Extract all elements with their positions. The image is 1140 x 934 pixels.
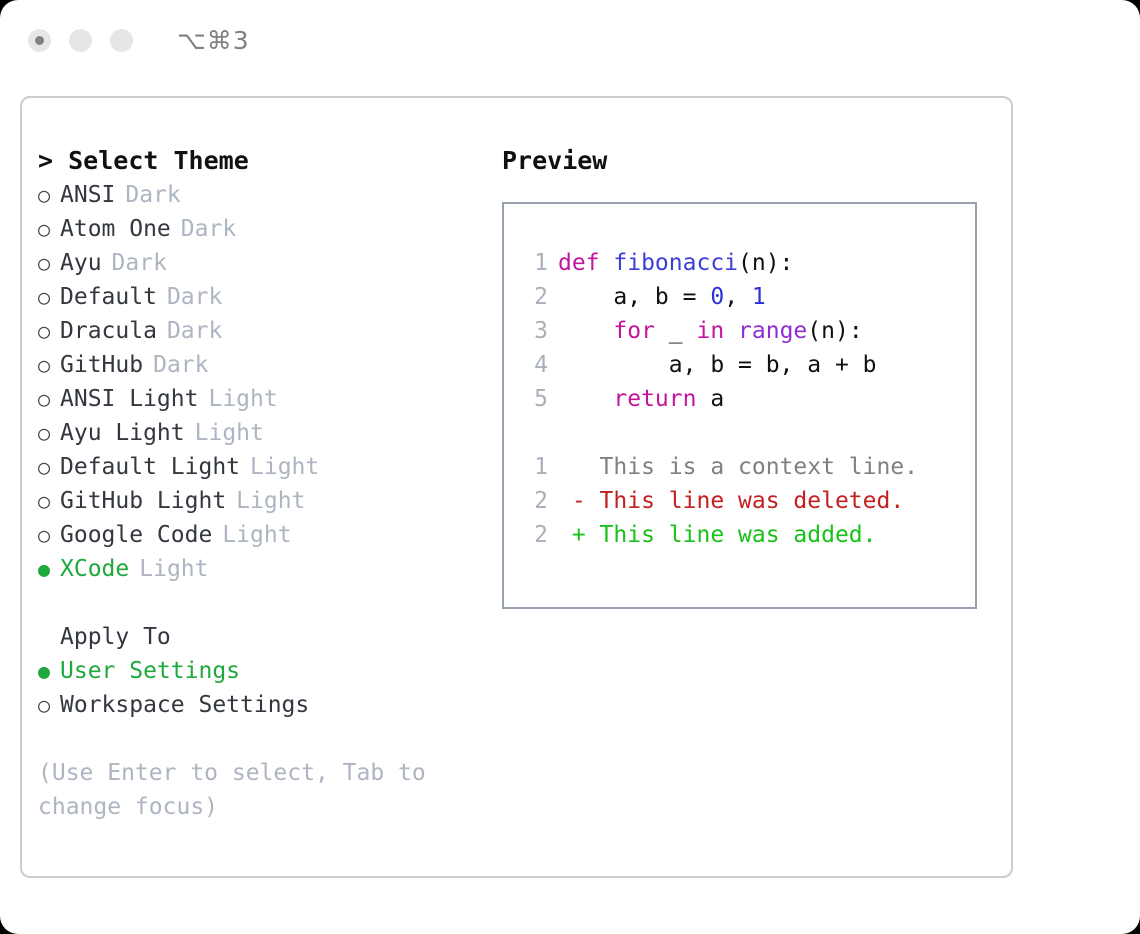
theme-variant-tag: Dark [112,246,167,280]
active-indicator-dot [35,36,44,45]
code-token-plain: a, b = [558,284,710,310]
code-line-text: def fibonacci(n): [558,246,793,280]
code-token-num: 0 [710,284,724,310]
preview-column: Preview 1def fibonacci(n):2 a, b = 0, 13… [502,144,1002,609]
window-controls [28,29,133,52]
apply-to-header-label: Apply To [60,620,171,654]
theme-variant-tag: Light [195,416,264,450]
apply-to-option-label: Workspace Settings [60,688,309,722]
preview-box: 1def fibonacci(n):2 a, b = 0, 13 for _ i… [502,202,977,609]
diff-line-number: 2 [518,518,548,552]
theme-variant-tag: Light [208,382,277,416]
code-line-number: 5 [518,382,548,416]
page-title-text: Select Theme [68,146,249,175]
diff-line-text: + This line was added. [558,518,877,552]
page-title: > Select Theme [38,144,498,178]
apply-to-option-label: User Settings [60,654,240,688]
code-line-number: 2 [518,280,548,314]
theme-option-ansi[interactable]: ○ANSIDark [38,178,498,212]
theme-option-label: GitHub [60,348,143,382]
radio-unselected-icon: ○ [38,280,60,314]
radio-unselected-icon: ○ [38,348,60,382]
title-bar: ⌥⌘3 [0,0,1140,80]
theme-option-label: Atom One [60,212,171,246]
code-line: 5 return a [504,382,975,416]
theme-option-github-light[interactable]: ○GitHub LightLight [38,484,498,518]
theme-option-default-light[interactable]: ○Default LightLight [38,450,498,484]
code-token-kw: return [613,386,696,412]
radio-unselected-icon: ○ [38,382,60,416]
diff-line-number: 2 [518,484,548,518]
code-line-text: for _ in range(n): [558,314,863,348]
theme-variant-tag: Light [222,518,291,552]
code-line-text: a, b = b, a + b [558,348,877,382]
diff-line-ctx: 1 This is a context line. [504,450,975,484]
radio-unselected-icon: ○ [38,484,60,518]
theme-option-ayu-light[interactable]: ○Ayu LightLight [38,416,498,450]
theme-option-label: XCode [60,552,129,586]
radio-unselected-icon: ○ [38,688,60,722]
radio-unselected-icon: ○ [38,450,60,484]
theme-option-dracula[interactable]: ○DraculaDark [38,314,498,348]
theme-variant-tag: Dark [181,212,236,246]
theme-option-default[interactable]: ○DefaultDark [38,280,498,314]
code-line-text: a, b = 0, 1 [558,280,766,314]
theme-option-label: GitHub Light [60,484,226,518]
code-token-plain [724,318,738,344]
theme-option-label: Ayu [60,246,102,280]
code-line: 2 a, b = 0, 1 [504,280,975,314]
code-token-plain: (n): [807,318,862,344]
theme-variant-tag: Light [236,484,305,518]
theme-variant-tag: Dark [153,348,208,382]
code-token-plain [558,318,613,344]
apply-to-header: ○Apply To [38,620,498,654]
code-token-kw: def [558,250,613,276]
theme-variant-tag: Light [250,450,319,484]
radio-unselected-icon: ○ [38,518,60,552]
apply-to-option-workspace-settings[interactable]: ○Workspace Settings [38,688,498,722]
diff-line-number: 1 [518,450,548,484]
code-token-kw: for [613,318,655,344]
theme-option-xcode[interactable]: ●XCodeLight [38,552,498,586]
theme-option-label: Default Light [60,450,240,484]
main-panel: > Select Theme ○ANSIDark○Atom OneDark○Ay… [20,96,1013,878]
keyboard-hint: (Use Enter to select, Tab to change focu… [38,756,438,824]
theme-option-ansi-light[interactable]: ○ANSI LightLight [38,382,498,416]
code-line: 1def fibonacci(n): [504,246,975,280]
theme-option-label: ANSI [60,178,115,212]
code-token-plain [558,386,613,412]
code-token-plain: a, b = b, a + b [558,352,877,378]
code-line: 3 for _ in range(n): [504,314,975,348]
code-token-kw: in [696,318,724,344]
code-sample: 1def fibonacci(n):2 a, b = 0, 13 for _ i… [504,246,975,416]
theme-variant-tag: Dark [125,178,180,212]
diff-sample: 1 This is a context line.2 - This line w… [504,450,975,552]
theme-option-github[interactable]: ○GitHubDark [38,348,498,382]
theme-option-label: Ayu Light [60,416,185,450]
theme-option-label: Default [60,280,157,314]
window-dot-third-icon[interactable] [110,29,133,52]
theme-option-google-code[interactable]: ○Google CodeLight [38,518,498,552]
radio-unselected-icon: ○ [38,314,60,348]
window-dot-second-icon[interactable] [69,29,92,52]
theme-variant-tag: Light [139,552,208,586]
code-token-num: 1 [752,284,766,310]
diff-line-add: 2 + This line was added. [504,518,975,552]
theme-list: ○ANSIDark○Atom OneDark○AyuDark○DefaultDa… [38,178,498,586]
code-token-plain: a [696,386,724,412]
theme-option-label: Google Code [60,518,212,552]
apply-to-option-user-settings[interactable]: ●User Settings [38,654,498,688]
radio-unselected-icon: ○ [38,246,60,280]
code-line-number: 3 [518,314,548,348]
preview-title: Preview [502,144,1002,178]
theme-option-atom-one[interactable]: ○Atom OneDark [38,212,498,246]
diff-line-text: This is a context line. [558,450,918,484]
diff-line-text: - This line was deleted. [558,484,904,518]
radio-selected-icon: ● [38,654,60,688]
code-token-fn: fibonacci [613,250,738,276]
theme-option-ayu[interactable]: ○AyuDark [38,246,498,280]
apply-to-list: ●User Settings○Workspace Settings [38,654,498,722]
radio-selected-icon: ● [38,552,60,586]
radio-unselected-icon: ○ [38,212,60,246]
code-diff-spacer [504,416,975,450]
theme-variant-tag: Dark [167,314,222,348]
code-token-plain: _ [655,318,697,344]
code-token-builtin: range [738,318,807,344]
prompt-caret-icon: > [38,146,53,175]
code-line-text: return a [558,382,724,416]
diff-line-del: 2 - This line was deleted. [504,484,975,518]
apply-to-header-spacer: ○ [38,620,60,654]
keyboard-shortcut-label: ⌥⌘3 [177,26,250,55]
window-dot-active-icon[interactable] [28,29,51,52]
theme-selector-column: > Select Theme ○ANSIDark○Atom OneDark○Ay… [38,144,498,824]
theme-option-label: ANSI Light [60,382,198,416]
code-line-number: 4 [518,348,548,382]
radio-unselected-icon: ○ [38,416,60,450]
code-line-number: 1 [518,246,548,280]
terminal-window: ⌥⌘3 > Select Theme ○ANSIDark○Atom OneDar… [0,0,1140,934]
theme-option-label: Dracula [60,314,157,348]
code-token-plain: (n): [738,250,793,276]
theme-variant-tag: Dark [167,280,222,314]
code-token-plain: , [724,284,752,310]
code-line: 4 a, b = b, a + b [504,348,975,382]
radio-unselected-icon: ○ [38,178,60,212]
